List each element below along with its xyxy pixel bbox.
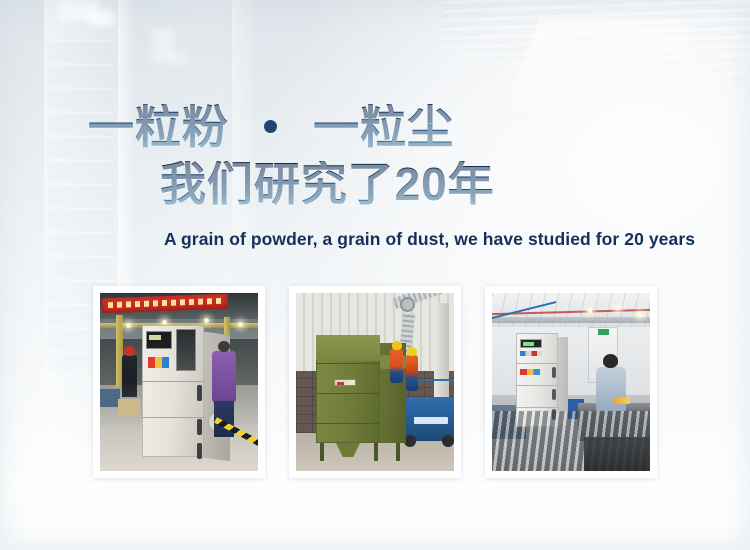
headline-line1-part2: 一粒尘 [313, 101, 454, 153]
headline-separator-dot [264, 120, 277, 133]
photo-factory-grey-cabinet [100, 293, 258, 471]
photo3-exit-sign [598, 329, 609, 335]
photo-frame-3 [485, 286, 657, 478]
headline-line1-part1: 一粒粉 [88, 101, 229, 153]
photo-workshop-white-cabinet [492, 293, 650, 471]
promo-banner: 一粒粉 一粒尘 我们研究了20年 A grain of powder, a gr… [0, 0, 750, 550]
photo2-worker-orange-2 [406, 355, 418, 391]
photo3-worker [596, 367, 626, 411]
photo2-fan [400, 297, 415, 312]
subtitle-english: A grain of powder, a grain of dust, we h… [164, 229, 750, 250]
headline-line-2: 我们研究了20年 [160, 161, 750, 207]
headline-line-1: 一粒粉 一粒尘 [88, 104, 750, 150]
photo-frame-2 [289, 286, 461, 478]
photo2-worker-orange-1 [390, 349, 403, 383]
photo-frame-1 [93, 286, 265, 478]
photo-strip [93, 286, 657, 478]
headline-block: 一粒粉 一粒尘 我们研究了20年 A grain of powder, a gr… [0, 104, 750, 250]
photo1-worker-purple [212, 351, 236, 403]
photo1-worker-black [122, 355, 137, 397]
photo-green-dust-collector [296, 293, 454, 471]
